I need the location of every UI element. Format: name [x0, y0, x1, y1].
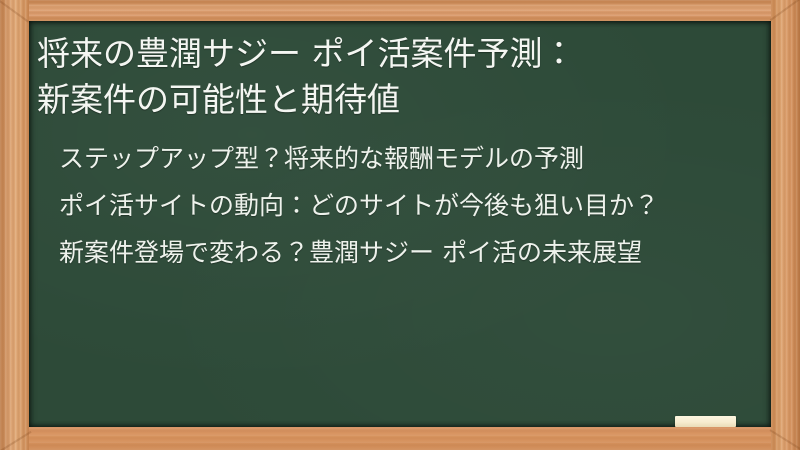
frame-rail-right	[771, 0, 800, 450]
frame-rail-left	[0, 0, 29, 450]
slide-title: 将来の豊潤サジー ポイ活案件予測： 新案件の可能性と期待値	[29, 21, 771, 123]
blackboard-slide: 将来の豊潤サジー ポイ活案件予測： 新案件の可能性と期待値 ステップアップ型？将…	[0, 0, 800, 450]
frame-miter-bottom-right	[769, 430, 800, 450]
toc-item-3: 新案件登場で変わる？豊潤サジー ポイ活の未来展望	[59, 233, 741, 272]
frame-rail-bottom	[0, 427, 800, 450]
frame-miter-top-right	[770, 0, 800, 21]
frame-miter-top-left	[0, 0, 29, 22]
frame-miter-bottom-left	[0, 431, 31, 450]
toc-item-2: ポイ活サイトの動向：どのサイトが今後も狙い目か？	[59, 186, 741, 225]
slide-content: 将来の豊潤サジー ポイ活案件予測： 新案件の可能性と期待値 ステップアップ型？将…	[29, 21, 771, 280]
toc-item-1: ステップアップ型？将来的な報酬モデルの予測	[59, 139, 741, 178]
frame-rail-top	[0, 0, 800, 21]
chalk-stick	[675, 416, 736, 427]
chalkboard-surface: 将来の豊潤サジー ポイ活案件予測： 新案件の可能性と期待値 ステップアップ型？将…	[29, 21, 771, 427]
table-of-contents: ステップアップ型？将来的な報酬モデルの予測 ポイ活サイトの動向：どのサイトが今後…	[29, 139, 771, 272]
